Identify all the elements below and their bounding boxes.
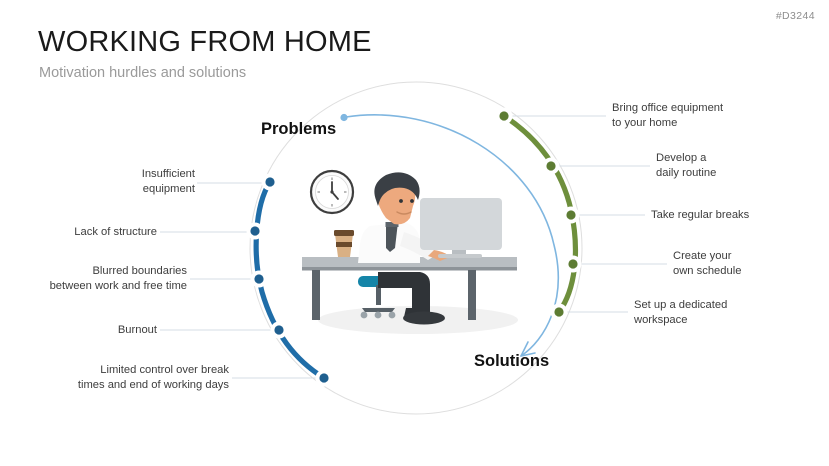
solution-node-3[interactable]	[563, 207, 580, 224]
solution-node-1[interactable]	[496, 108, 513, 125]
slide-canvas: WORKING FROM HOME Motivation hurdles and…	[0, 0, 829, 466]
problem-label-2[interactable]: Lack of structure	[20, 225, 157, 240]
problem-label-5[interactable]: Limited control over breaktimes and end …	[30, 363, 229, 392]
solution-label-2[interactable]: Develop adaily routine	[656, 151, 816, 180]
solution-node-5[interactable]	[551, 304, 568, 321]
coffee-cup	[334, 230, 354, 257]
problem-node-5[interactable]	[316, 370, 333, 387]
solution-label-1[interactable]: Bring office equipmentto your home	[612, 101, 817, 130]
problem-label-1[interactable]: Insufficientequipment	[40, 167, 195, 196]
wall-clock-icon	[311, 171, 353, 213]
problem-label-3[interactable]: Blurred boundariesbetween work and free …	[18, 264, 187, 293]
solution-label-3[interactable]: Take regular breaks	[651, 208, 821, 223]
solution-label-5[interactable]: Set up a dedicatedworkspace	[634, 298, 814, 327]
heading-problems: Problems	[261, 120, 336, 139]
problem-node-2[interactable]	[247, 223, 264, 240]
problem-node-1[interactable]	[262, 174, 279, 191]
solution-node-2[interactable]	[543, 158, 560, 175]
computer-monitor	[420, 198, 502, 258]
problem-node-3[interactable]	[251, 271, 268, 288]
problem-label-4[interactable]: Burnout	[20, 323, 157, 338]
solution-node-4[interactable]	[565, 256, 582, 273]
man-working-at-desk-illustration	[300, 160, 530, 350]
person-head	[374, 172, 419, 224]
solution-label-4[interactable]: Create yourown schedule	[673, 249, 818, 278]
heading-solutions: Solutions	[474, 352, 549, 371]
problem-node-4[interactable]	[271, 322, 288, 339]
